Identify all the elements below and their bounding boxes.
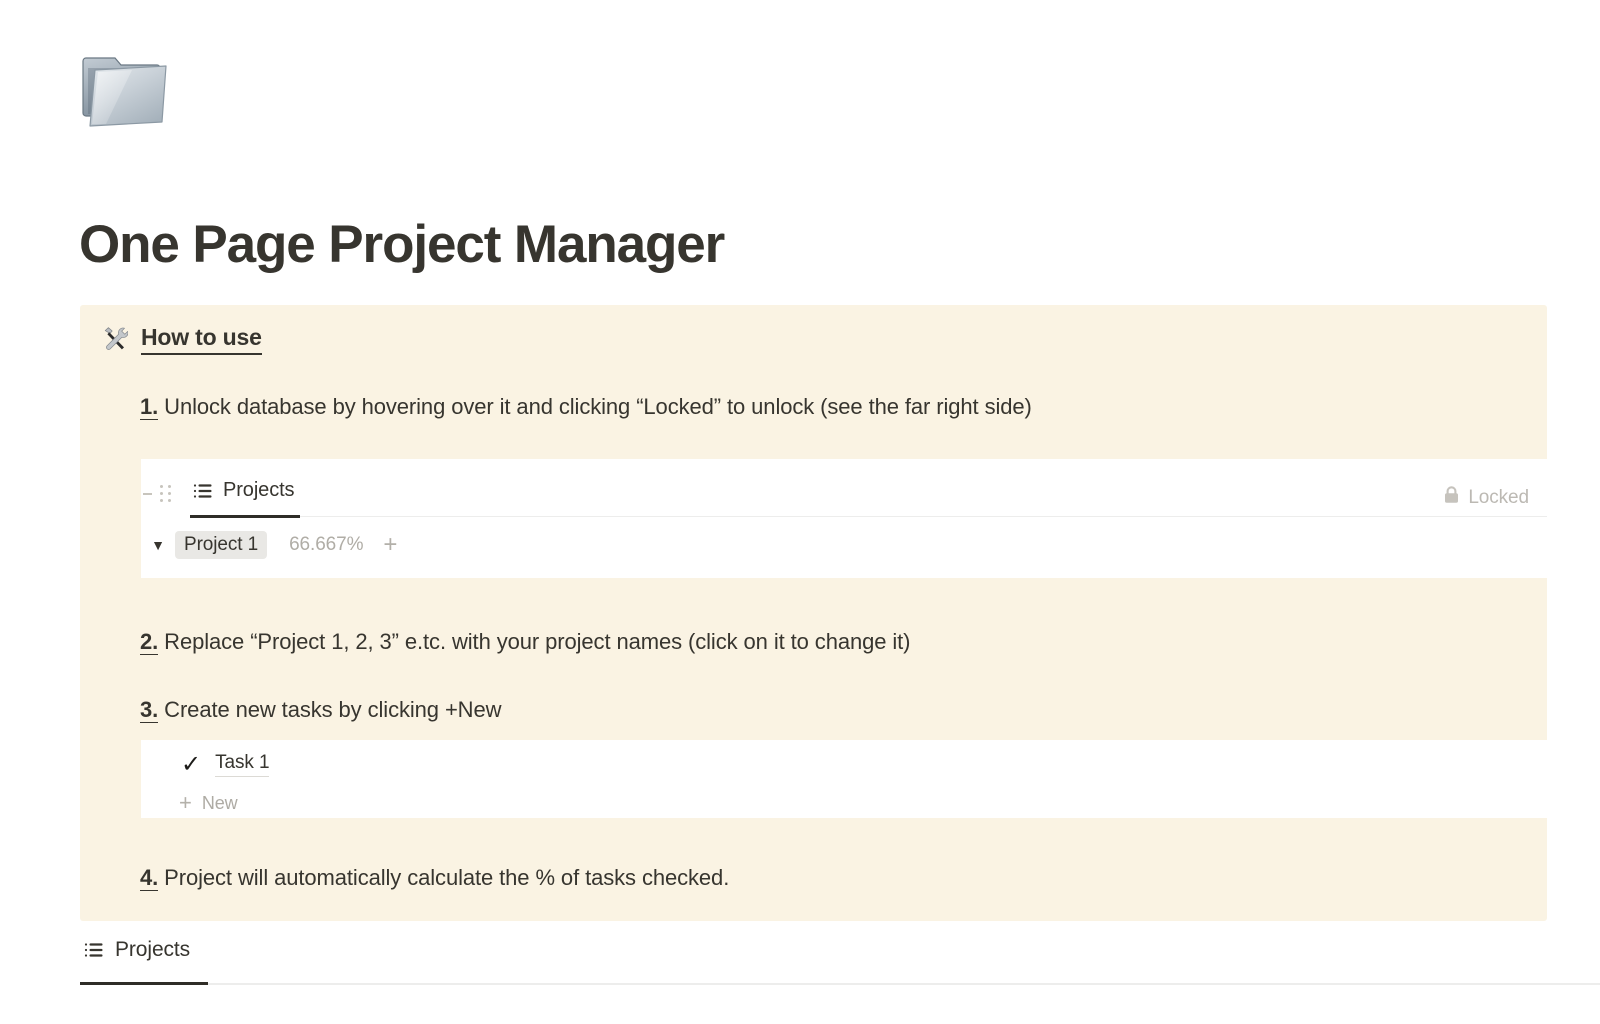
task-list-block: ✓ Task 1 + New [141,740,1555,818]
lock-status[interactable]: Locked [1443,485,1529,510]
step-1: 1. Unlock database by hovering over it a… [140,392,1032,422]
project-name-tag[interactable]: Project 1 [175,531,267,559]
step-2-number: 2. [140,629,158,655]
step-3: 3. Create new tasks by clicking +New [140,695,501,725]
step-3-text: Create new tasks by clicking +New [158,697,501,722]
task-row[interactable]: ✓ Task 1 [181,752,269,777]
embedded-database-block: Projects Locked ▼ Project 1 [141,459,1547,578]
toolbar-divider [300,516,1547,517]
step-3-number: 3. [140,697,158,723]
tab-projects-label: Projects [115,938,190,962]
tabbar-divider [208,983,1600,985]
collapse-dash-icon[interactable] [143,493,152,495]
step-4: 4. Project will automatically calculate … [140,863,729,893]
active-view-underline [190,515,300,518]
open-folder-icon[interactable] [80,42,184,146]
row-collapse-caret-icon[interactable]: ▼ [141,538,175,552]
how-to-use-callout: How to use 1. Unlock database by hoverin… [80,305,1547,921]
table-row[interactable]: ▼ Project 1 66.667% + [141,525,397,565]
step-4-text: Project will automatically calculate the… [158,865,729,890]
tab-projects[interactable]: Projects [84,938,190,962]
step-1-text: Unlock database by hovering over it and … [158,394,1032,419]
step-2: 2. Replace “Project 1, 2, 3” e.tc. with … [140,627,910,657]
callout-title: How to use [141,323,262,355]
task-label[interactable]: Task 1 [215,752,269,777]
checkmark-icon[interactable]: ✓ [181,753,201,777]
new-task-button[interactable]: + New [179,792,238,814]
lock-label: Locked [1468,487,1529,509]
new-task-label: New [202,793,238,814]
drag-handle-icon[interactable] [160,485,172,503]
active-tab-underline [80,982,208,985]
page-title: One Page Project Manager [79,212,724,278]
bottom-database-tabbar: Projects [80,938,1600,986]
database-view-tab-projects[interactable]: Projects [193,479,294,512]
step-4-number: 4. [140,865,158,891]
lock-icon [1443,485,1460,510]
step-1-number: 1. [140,394,158,420]
callout-header: How to use [102,323,262,355]
page-root: One Page Project Manager How to use [0,0,1600,1024]
hammer-and-wrench-icon [102,326,128,352]
database-view-label: Projects [223,479,294,502]
list-view-icon [84,940,104,960]
add-row-button[interactable]: + [383,533,397,557]
list-view-icon [193,481,213,501]
step-2-text: Replace “Project 1, 2, 3” e.tc. with you… [158,629,910,654]
database-toolbar: Projects Locked [141,459,1547,517]
project-progress-percent: 66.667% [289,534,363,556]
plus-icon: + [179,792,192,814]
